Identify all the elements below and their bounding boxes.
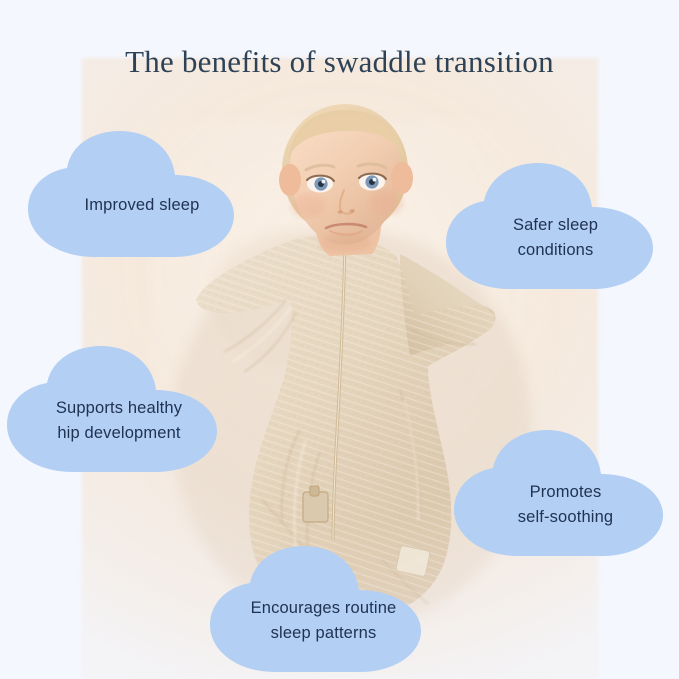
benefit-cloud-self-soothing[interactable]: Promotes self-soothing — [452, 430, 679, 556]
cloud-shape-icon — [22, 131, 262, 257]
benefit-cloud-improved-sleep[interactable]: Improved sleep — [22, 131, 262, 257]
cloud-shape-icon — [207, 546, 440, 672]
swaddle-benefits-infographic: The benefits of swaddle transition Impro… — [0, 0, 679, 679]
benefit-cloud-hip-development[interactable]: Supports healthy hip development — [3, 346, 235, 472]
cloud-shape-icon — [452, 430, 679, 556]
page-title: The benefits of swaddle transition — [0, 44, 679, 80]
benefit-cloud-sleep-patterns[interactable]: Encourages routine sleep patterns — [207, 546, 440, 672]
benefit-cloud-safer-sleep[interactable]: Safer sleep conditions — [443, 163, 668, 289]
cloud-shape-icon — [3, 346, 235, 472]
cloud-shape-icon — [443, 163, 668, 289]
